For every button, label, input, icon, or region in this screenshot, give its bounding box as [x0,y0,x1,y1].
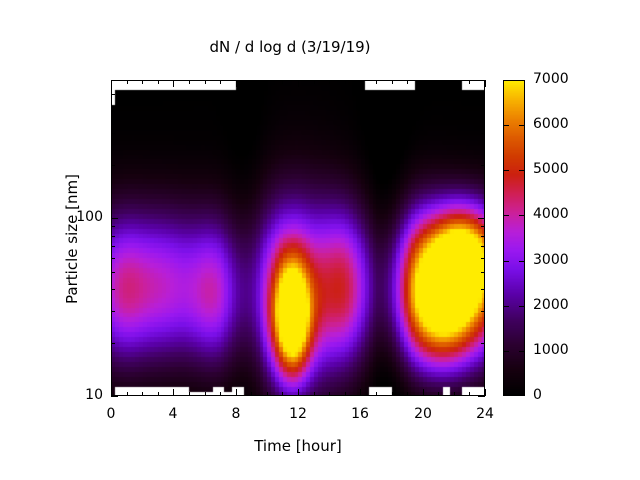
colorbar-tick-label: 0 [533,387,603,403]
y-tick-minor-right [481,133,485,134]
x-tick-minor [392,392,393,396]
x-tick-minor [469,392,470,396]
x-tick-minor-top [438,80,439,84]
x-tick-major-top [111,80,112,87]
x-tick-minor-top [392,80,393,84]
y-tick-minor-right [481,165,485,166]
x-tick-minor-top [220,80,221,84]
y-tick-minor [111,165,115,166]
colorbar-tick-right [519,170,525,171]
x-tick-major [485,389,486,396]
colorbar-tick-right [519,215,525,216]
x-tick-minor [438,392,439,396]
x-tick-minor [142,392,143,396]
y-tick-minor-right [481,236,485,237]
page-title: dN / d log d (3/19/19) [0,38,580,56]
y-tick-minor [111,226,115,227]
heatmap-canvas [111,80,485,396]
colorbar-tick-label: 3000 [533,252,603,268]
x-tick-minor-top [267,80,268,84]
y-tick-minor-right [481,272,485,273]
y-tick-minor-right [481,226,485,227]
y-tick-major-right [478,396,485,397]
plot-area [111,80,485,396]
x-tick-minor [454,392,455,396]
x-tick-minor [282,392,283,396]
colorbar-tick-label: 6000 [533,116,603,132]
x-tick-minor-top [376,80,377,84]
y-tick-minor [111,311,115,312]
x-tick-minor [376,392,377,396]
y-axis-label: Particle size [nm] [63,81,81,397]
y-tick-minor [111,133,115,134]
x-tick-minor [251,392,252,396]
x-tick-minor-top [345,80,346,84]
x-tick-major-top [298,80,299,87]
x-tick-minor [345,392,346,396]
x-tick-label: 24 [455,406,515,422]
x-tick-minor [314,392,315,396]
y-tick-minor [111,246,115,247]
y-tick-major [111,218,118,219]
x-tick-major [236,389,237,396]
x-tick-minor-top [127,80,128,84]
x-tick-minor-top [189,80,190,84]
y-tick-minor [111,289,115,290]
x-tick-minor [407,392,408,396]
y-tick-minor-right [481,94,485,95]
x-tick-major [173,389,174,396]
x-tick-minor [267,392,268,396]
x-tick-major-top [485,80,486,87]
x-tick-major [298,389,299,396]
colorbar-tick-right [519,125,525,126]
x-tick-minor-top [282,80,283,84]
colorbar-tick [503,261,509,262]
colorbar-tick-right [519,351,525,352]
colorbar-tick [503,306,509,307]
colorbar-tick-label: 4000 [533,206,603,222]
colorbar-tick [503,170,509,171]
colorbar-tick-label: 5000 [533,161,603,177]
x-tick-minor-top [142,80,143,84]
x-tick-minor-top [205,80,206,84]
x-tick-minor [220,392,221,396]
x-tick-major-top [236,80,237,87]
x-tick-major [423,389,424,396]
x-tick-label: 4 [143,406,203,422]
colorbar-tick [503,125,509,126]
x-tick-label: 8 [206,406,266,422]
x-tick-minor [127,392,128,396]
x-tick-major-top [423,80,424,87]
x-tick-label: 0 [81,406,141,422]
heatmap-figure: dN / d log d (3/19/19) 04812162024 10100… [0,0,640,480]
y-tick-minor-right [481,258,485,259]
x-tick-minor [158,392,159,396]
x-tick-label: 12 [268,406,328,422]
y-tick-major [111,396,118,397]
x-tick-minor-top [329,80,330,84]
colorbar [503,80,525,396]
colorbar-gradient [503,80,525,396]
x-tick-major-top [173,80,174,87]
y-tick-minor-right [481,246,485,247]
x-tick-minor-top [314,80,315,84]
y-tick-minor [111,236,115,237]
y-tick-minor-right [481,111,485,112]
y-tick-minor [111,343,115,344]
x-tick-minor [205,392,206,396]
y-tick-minor-right [481,289,485,290]
x-tick-minor-top [158,80,159,84]
y-tick-minor [111,258,115,259]
x-tick-major-top [360,80,361,87]
y-tick-minor-right [481,343,485,344]
x-tick-minor-top [407,80,408,84]
colorbar-tick-right [519,306,525,307]
x-tick-minor [329,392,330,396]
x-tick-minor [189,392,190,396]
y-tick-minor [111,272,115,273]
y-tick-major-right [478,218,485,219]
y-tick-minor-right [481,311,485,312]
colorbar-tick [503,351,509,352]
x-tick-minor-top [251,80,252,84]
x-tick-label: 20 [393,406,453,422]
colorbar-tick [503,215,509,216]
y-tick-minor [111,94,115,95]
x-tick-label: 16 [330,406,390,422]
colorbar-tick-label: 7000 [533,71,603,87]
x-tick-minor-top [469,80,470,84]
colorbar-tick-right [519,261,525,262]
x-tick-major [111,389,112,396]
colorbar-tick-label: 2000 [533,297,603,313]
colorbar-tick-label: 1000 [533,342,603,358]
x-axis-label: Time [hour] [111,437,485,455]
x-tick-minor-top [454,80,455,84]
x-tick-major [360,389,361,396]
y-tick-minor [111,111,115,112]
